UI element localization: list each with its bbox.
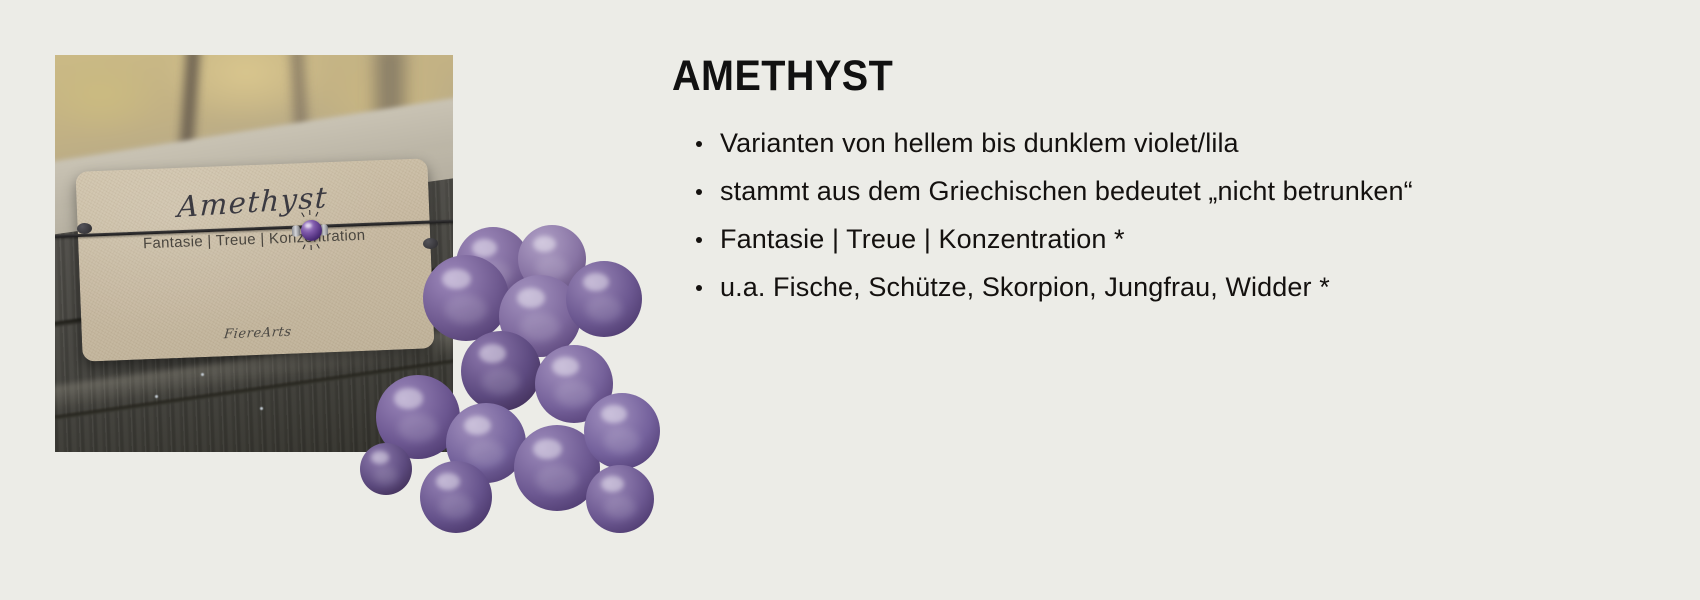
description-column: AMETHYST Varianten von hellem bis dunkle… — [672, 52, 1572, 311]
bead-3 — [423, 255, 509, 341]
sparkle-ray-6 — [316, 244, 319, 249]
sparkle-ray-2 — [309, 210, 310, 215]
bullet-icon — [696, 141, 702, 147]
list-item: u.a. Fische, Schütze, Skorpion, Jungfrau… — [672, 263, 1510, 311]
page-title: AMETHYST — [672, 52, 1500, 101]
wood-speck-4 — [260, 407, 263, 410]
list-item-label: Fantasie | Treue | Konzentration * — [720, 224, 1125, 254]
list-item-label: u.a. Fische, Schütze, Skorpion, Jungfrau… — [720, 272, 1330, 302]
bead-5 — [566, 261, 642, 337]
wood-speck-3 — [155, 395, 158, 398]
bead-6 — [461, 331, 541, 411]
amethyst-gem-group — [286, 212, 333, 250]
sparkle-ray-3 — [315, 212, 318, 217]
sparkle-ray-4 — [303, 244, 306, 249]
sparkle-ray-1 — [301, 212, 304, 217]
list-item-label: stammt aus dem Griechischen bedeutet „ni… — [720, 176, 1413, 206]
bead-14 — [360, 443, 412, 495]
bead-13 — [586, 465, 654, 533]
bead-11 — [584, 393, 660, 469]
amethyst-bead-bracelet — [360, 225, 660, 545]
property-list: Varianten von hellem bis dunklem violet/… — [672, 119, 1572, 311]
amethyst-product-panel: Amethyst Fantasie | Treue | Konzentratio… — [0, 0, 1700, 600]
list-item: Varianten von hellem bis dunklem violet/… — [672, 119, 1510, 167]
wood-speck-2 — [201, 373, 204, 376]
sparkle-ray-5 — [311, 245, 312, 250]
list-item: stammt aus dem Griechischen bedeutet „ni… — [672, 167, 1510, 215]
bullet-icon — [696, 237, 702, 243]
list-item: Fantasie | Treue | Konzentration * — [672, 215, 1510, 263]
bullet-icon — [696, 285, 702, 291]
list-item-label: Varianten von hellem bis dunklem violet/… — [720, 128, 1239, 158]
silver-bead-left — [292, 225, 300, 236]
amethyst-gem — [301, 220, 323, 242]
bullet-icon — [696, 189, 702, 195]
bead-12 — [420, 461, 492, 533]
